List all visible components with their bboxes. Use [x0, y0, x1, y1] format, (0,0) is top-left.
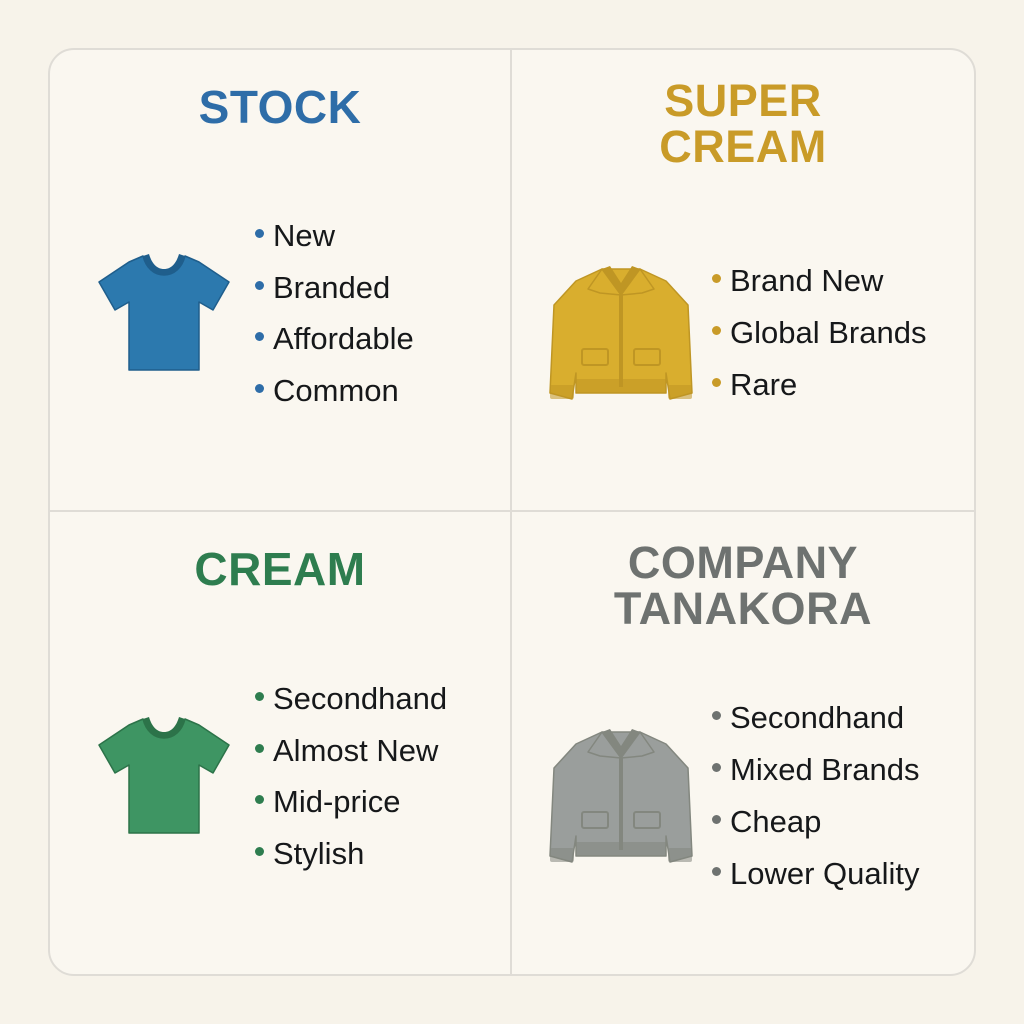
bullet-icon [255, 332, 264, 341]
feature-label: Global Brands [730, 314, 926, 352]
feature-label: Secondhand [273, 680, 447, 718]
feature-label: Cheap [730, 803, 821, 841]
list-item: Common [255, 372, 414, 410]
quadrant-title-super-cream: SUPER CREAM [659, 78, 827, 170]
list-item: Secondhand [712, 699, 920, 737]
feature-label: Almost New [273, 732, 438, 770]
feature-label: New [273, 217, 335, 255]
comparison-infographic: STOCKNewBrandedAffordableCommonSUPER CRE… [48, 48, 976, 976]
list-item: Almost New [255, 732, 447, 770]
feature-label: Affordable [273, 320, 414, 358]
list-item: Cheap [712, 803, 920, 841]
bullet-icon [255, 384, 264, 393]
list-item: Secondhand [255, 680, 447, 718]
tshirt-icon [79, 238, 249, 388]
feature-label: Lower Quality [730, 855, 920, 893]
tshirt-icon [79, 701, 249, 851]
quadrant-super-cream: SUPER CREAMBrand NewGlobal BrandsRare [512, 50, 974, 512]
jacket-icon-svg [542, 253, 700, 413]
feature-list-stock: NewBrandedAffordableCommon [255, 217, 414, 410]
list-item: Brand New [712, 262, 926, 300]
feature-label: Stylish [273, 835, 364, 873]
quadrant-body-stock: NewBrandedAffordableCommon [57, 131, 503, 496]
feature-list-company-tanakora: SecondhandMixed BrandsCheapLower Quality [712, 699, 920, 892]
list-item: Global Brands [712, 314, 926, 352]
tshirt-icon-svg [89, 701, 239, 851]
tshirt-icon-svg [89, 238, 239, 388]
list-item: Lower Quality [712, 855, 920, 893]
jacket-icon [536, 253, 706, 413]
bullet-icon [712, 763, 721, 772]
quadrant-body-company-tanakora: SecondhandMixed BrandsCheapLower Quality [524, 632, 962, 960]
list-item: Branded [255, 269, 414, 307]
bullet-icon [255, 229, 264, 238]
bullet-icon [712, 274, 721, 283]
quadrant-body-super-cream: Brand NewGlobal BrandsRare [524, 170, 962, 496]
bullet-icon [255, 281, 264, 290]
feature-label: Mixed Brands [730, 751, 920, 789]
quadrant-title-company-tanakora: COMPANY TANAKORA [614, 540, 872, 632]
bullet-icon [255, 847, 264, 856]
feature-list-super-cream: Brand NewGlobal BrandsRare [712, 262, 926, 403]
list-item: New [255, 217, 414, 255]
feature-label: Mid-price [273, 783, 400, 821]
quadrant-cream: CREAMSecondhandAlmost NewMid-priceStylis… [50, 512, 512, 974]
quadrant-title-cream: CREAM [194, 546, 365, 593]
bullet-icon [255, 744, 264, 753]
bullet-icon [712, 378, 721, 387]
feature-list-cream: SecondhandAlmost NewMid-priceStylish [255, 680, 447, 873]
quadrant-stock: STOCKNewBrandedAffordableCommon [50, 50, 512, 512]
feature-label: Brand New [730, 262, 883, 300]
bullet-icon [712, 815, 721, 824]
quadrant-company-tanakora: COMPANY TANAKORASecondhandMixed BrandsCh… [512, 512, 974, 974]
bullet-icon [255, 795, 264, 804]
bullet-icon [255, 692, 264, 701]
list-item: Affordable [255, 320, 414, 358]
bullet-icon [712, 326, 721, 335]
list-item: Mid-price [255, 783, 447, 821]
feature-label: Branded [273, 269, 390, 307]
list-item: Mixed Brands [712, 751, 920, 789]
bullet-icon [712, 711, 721, 720]
quadrant-body-cream: SecondhandAlmost NewMid-priceStylish [57, 593, 503, 960]
bullet-icon [712, 867, 721, 876]
list-item: Stylish [255, 835, 447, 873]
list-item: Rare [712, 366, 926, 404]
jacket-icon [536, 716, 706, 876]
feature-label: Secondhand [730, 699, 904, 737]
quadrant-title-stock: STOCK [199, 84, 362, 131]
jacket-icon-svg [542, 716, 700, 876]
feature-label: Common [273, 372, 399, 410]
feature-label: Rare [730, 366, 797, 404]
